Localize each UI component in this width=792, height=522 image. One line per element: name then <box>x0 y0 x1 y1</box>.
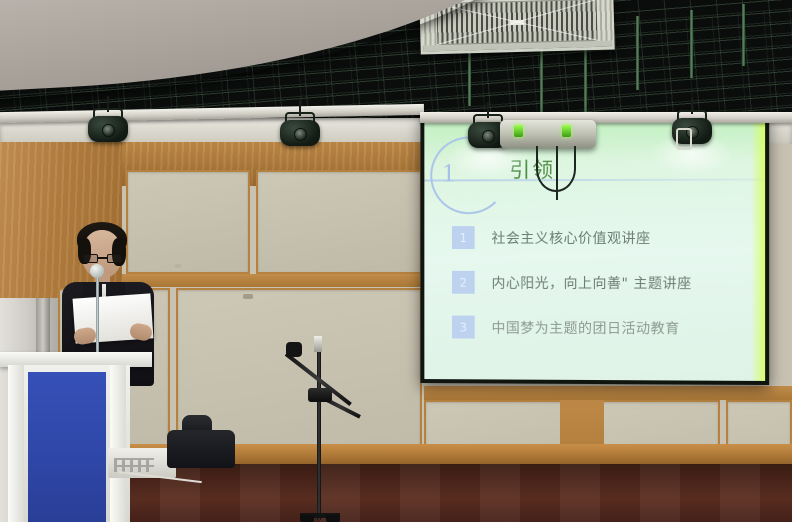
led-indicator <box>514 125 523 137</box>
ceiling-pipe <box>742 4 745 66</box>
boom-top-tip <box>314 336 322 352</box>
equipment-bag <box>167 430 235 468</box>
ceiling-pipe <box>636 16 639 90</box>
bullet-label: 社会主义核心价值观讲座 <box>492 227 651 247</box>
bullet-number-badge: 1 <box>452 226 475 249</box>
slide-badge-number: 1 <box>442 159 455 189</box>
boom-clutch <box>308 388 332 402</box>
podium-leg <box>8 365 24 522</box>
projection-screen: 1 引领 1 社会主义核心价值观讲座 2 内心阳光，向上向善" 主题讲座 3 中… <box>424 115 765 381</box>
slide-title-divider <box>424 178 765 181</box>
bullet-label: 内心阳光，向上向善" 主题讲座 <box>492 272 692 292</box>
glasses-lens <box>83 254 98 263</box>
ceiling-pipe <box>468 44 471 106</box>
bullet-label: 中国梦为主题的团日活动教育 <box>492 317 680 338</box>
light-lens <box>482 130 495 143</box>
projection-screen-frame: 1 引领 1 社会主义核心价值观讲座 2 内心阳光，向上向善" 主题讲座 3 中… <box>420 111 769 385</box>
bullet-number-badge: 3 <box>452 316 475 339</box>
list-item: 3 中国梦为主题的团日活动教育 <box>452 316 755 340</box>
wall-vent <box>243 294 253 299</box>
led-indicator <box>562 125 571 137</box>
glasses-lens <box>107 254 122 263</box>
slide-bullet-list: 1 社会主义核心价值观讲座 2 内心阳光，向上向善" 主题讲座 3 中国梦为主题… <box>452 226 755 362</box>
list-item: 1 社会主义核心价值观讲座 <box>452 226 755 249</box>
ceiling-pipe <box>690 10 693 78</box>
boom-mic-clip <box>286 342 302 357</box>
presentation-photo-scene: 1 引领 1 社会主义核心价值观讲座 2 内心阳光，向上向善" 主题讲座 3 中… <box>0 0 792 522</box>
podium-microphone-head <box>90 264 104 278</box>
screen-edge-glow <box>751 115 765 381</box>
podium-microphone-stem <box>96 272 99 362</box>
podium-front-panel <box>28 372 106 522</box>
recessed-wall-light <box>174 264 182 268</box>
podium-leg <box>110 365 126 522</box>
glasses-bridge <box>98 257 107 259</box>
hanging-cable <box>556 146 558 200</box>
light-lens <box>102 124 115 137</box>
boom-post <box>317 342 321 520</box>
boom-foot <box>300 515 314 522</box>
light-bar-fixture <box>500 120 596 148</box>
bullet-number-badge: 2 <box>452 271 475 294</box>
mic-boom-stand <box>300 336 380 522</box>
boom-foot <box>326 515 340 522</box>
eyeglasses <box>83 254 122 263</box>
list-item: 2 内心阳光，向上向善" 主题讲座 <box>452 271 755 294</box>
cable-hook <box>676 128 692 150</box>
wall-divider-trim <box>424 386 792 400</box>
light-lens <box>294 128 307 141</box>
wall-divider-trim <box>122 274 422 287</box>
device-buttons <box>114 458 154 472</box>
wall-panel <box>256 170 422 274</box>
hvac-side-vent <box>596 0 613 41</box>
